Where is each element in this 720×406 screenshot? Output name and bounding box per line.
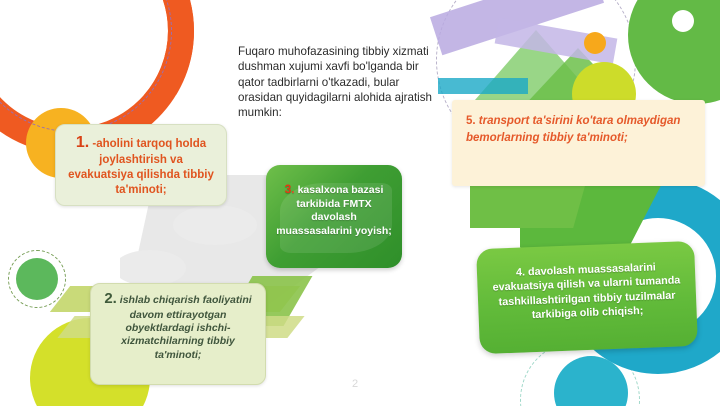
teal-bar-shape [438, 78, 528, 94]
orange-dot-shape [584, 32, 606, 54]
item-3-number: 3. [285, 182, 295, 196]
item-card-3[interactable]: 3. kasalxona bazasi tarkibida FMTX davol… [266, 165, 402, 268]
item-5-number: 5. [466, 115, 476, 127]
dashed-circle-shape [0, 0, 172, 132]
item-2-number: 2. [104, 290, 117, 307]
teal-circle-shape [554, 356, 628, 406]
green-circle-shape [16, 258, 58, 300]
page-number: 2 [352, 378, 358, 390]
item-card-4[interactable]: 4. davolash muassasalarini evakuatsiya q… [476, 241, 698, 354]
item-1-number: 1. [76, 134, 89, 151]
green-donut-shape [628, 0, 720, 104]
item-card-4-wrapper: 4. davolash muassasalarini evakuatsiya q… [476, 241, 698, 354]
green-donut-hole-shape [672, 10, 694, 32]
item-5-text: transport ta'sirini ko'tara olmaydigan b… [466, 115, 680, 144]
item-2-text: ishlab chiqarish faoliyatini davom ettir… [120, 294, 252, 361]
item-card-1[interactable]: 1. -aholini tarqoq holda joylashtirish v… [55, 124, 227, 206]
item-card-5[interactable]: 5. transport ta'sirini ko'tara olmaydiga… [452, 100, 705, 186]
lavender-ribbon-2-shape [495, 18, 618, 64]
dashed-green-ring-shape [8, 250, 66, 308]
item-1-text: -aholini tarqoq holda joylashtirish va e… [68, 138, 214, 196]
presentation-slide: Fuqaro muhofazasining tibbiy xizmati dus… [0, 0, 720, 406]
intro-paragraph: Fuqaro muhofazasining tibbiy xizmati dus… [238, 44, 434, 120]
lavender-ribbon-shape [430, 0, 604, 55]
green-triangle-shape [468, 30, 604, 108]
item-card-2[interactable]: 2. ishlab chiqarish faoliyatini davom et… [90, 283, 266, 385]
item-4-number: 4. [516, 266, 525, 278]
